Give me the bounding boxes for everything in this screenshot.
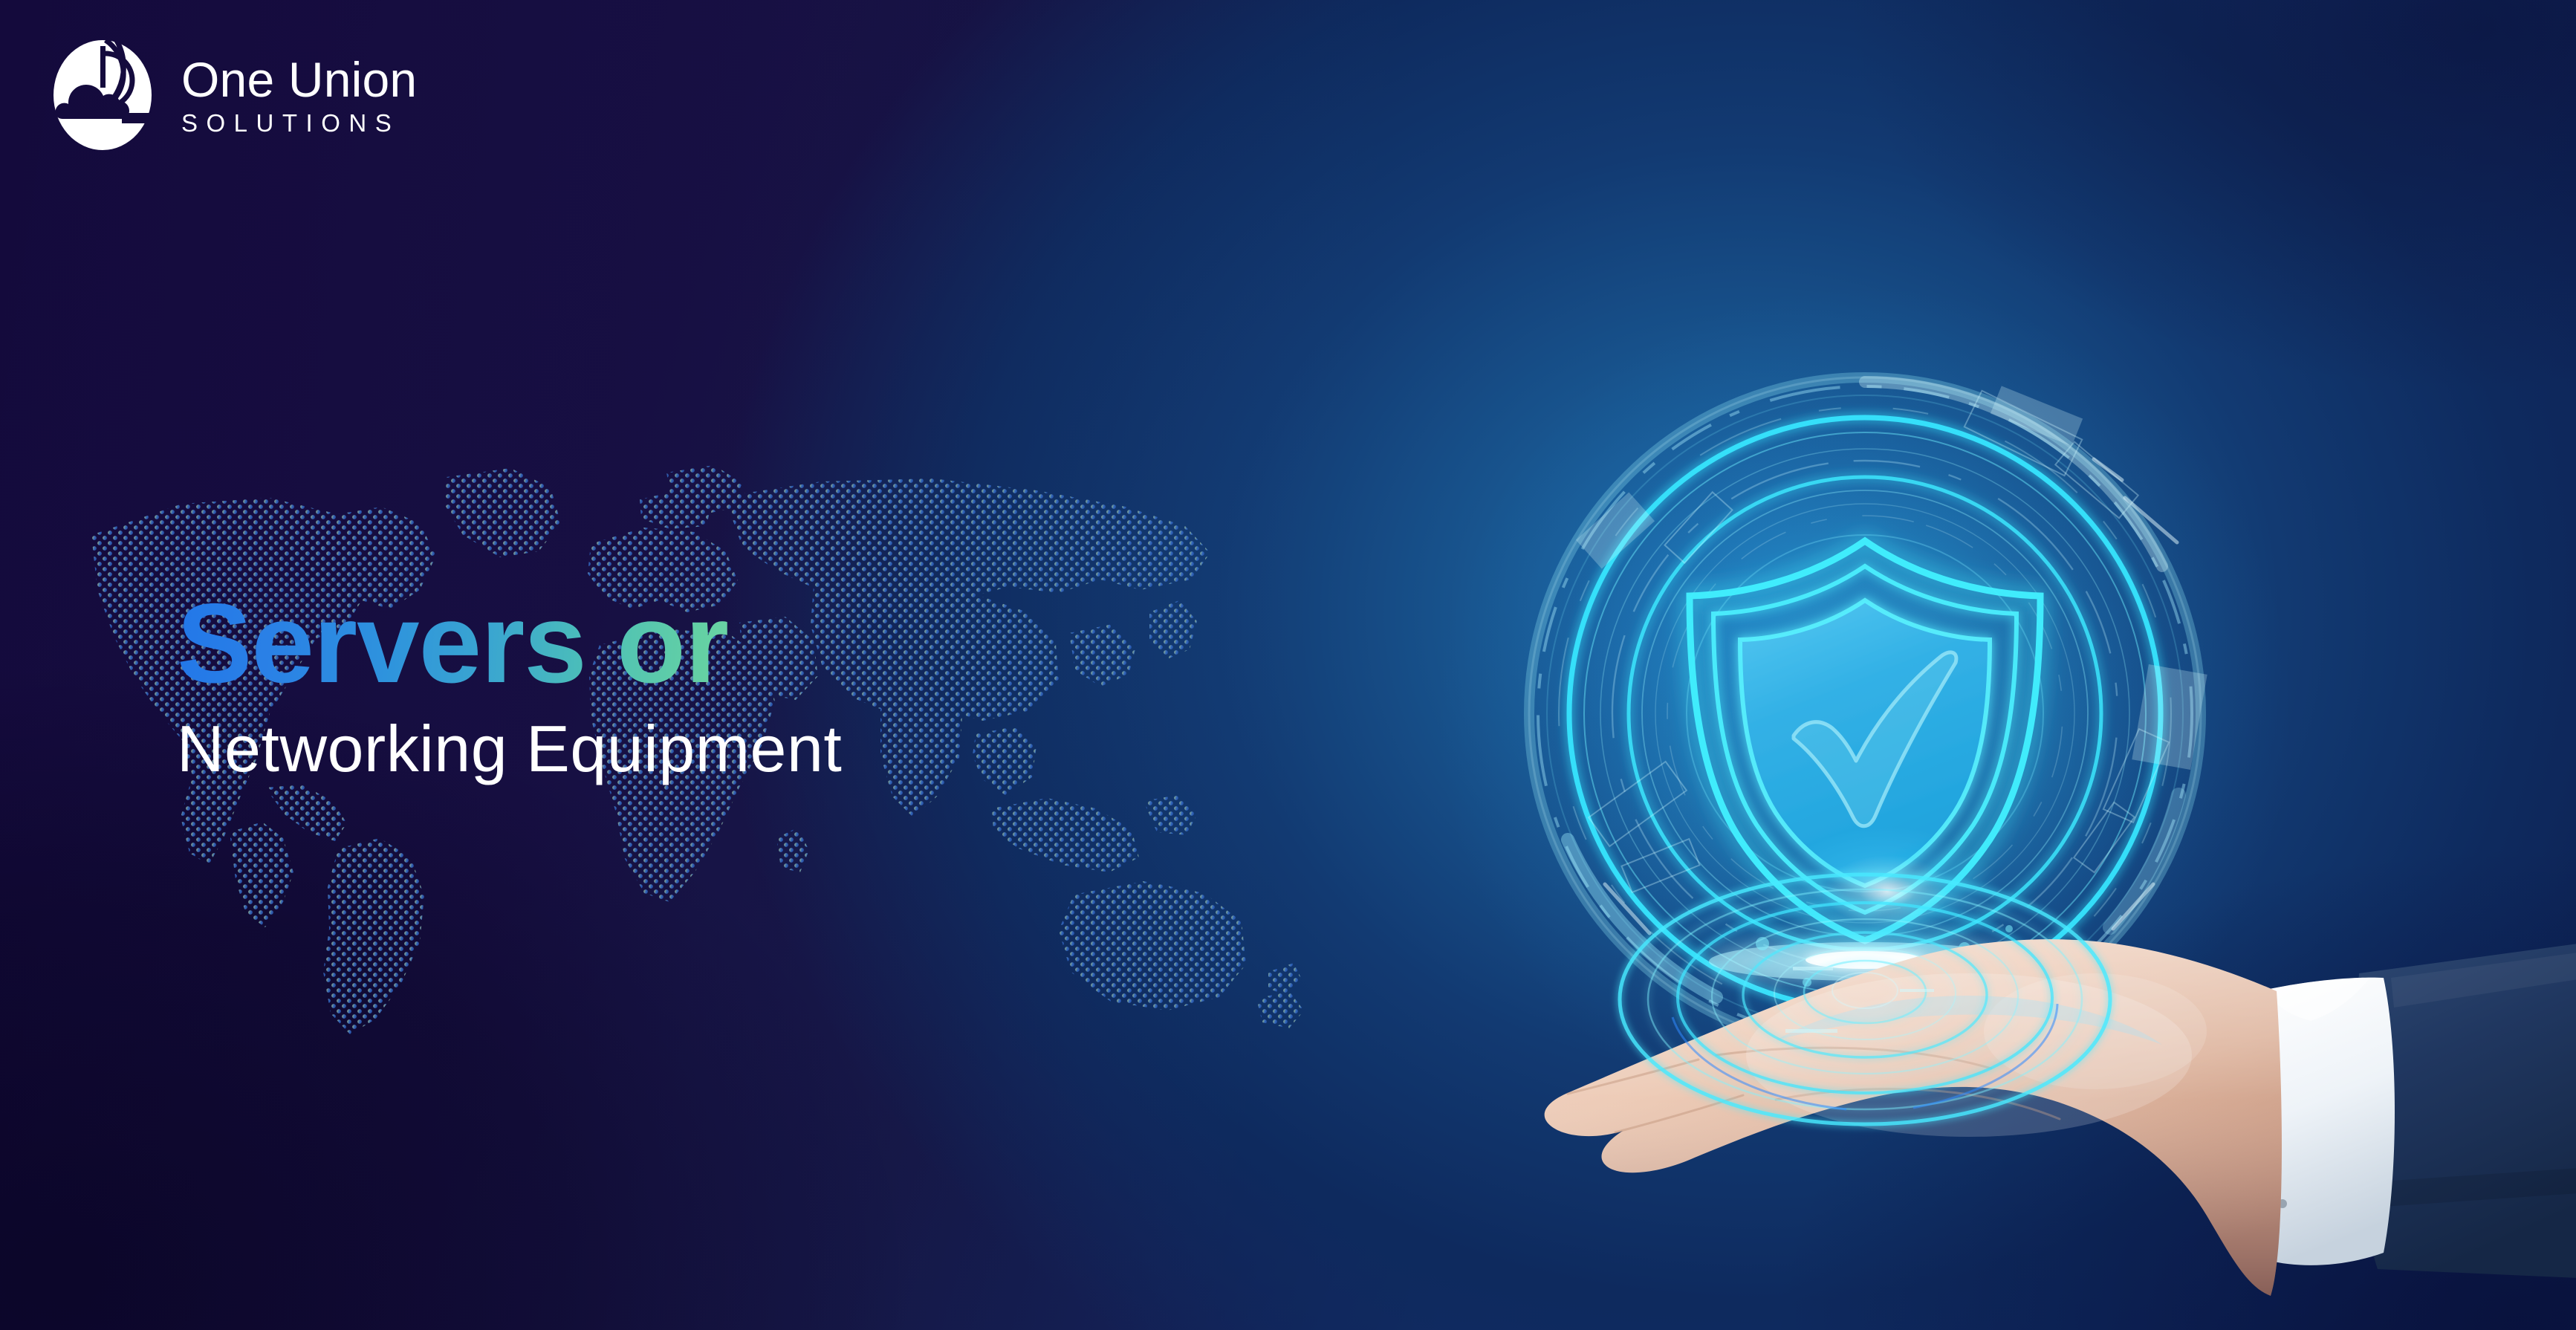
hero-banner: One Union SOLUTIONS Servers or Networkin… bbox=[0, 0, 2576, 1330]
headline-block: Servers or Networking Equipment bbox=[177, 587, 842, 782]
cloud-wifi-logo-icon bbox=[43, 36, 162, 155]
brand-subtitle: SOLUTIONS bbox=[181, 111, 417, 135]
headline-line-1: Servers or bbox=[177, 587, 842, 700]
headline-line-2: Networking Equipment bbox=[177, 716, 842, 782]
brand-logo-text: One Union SOLUTIONS bbox=[181, 55, 417, 135]
open-palm-hand-icon bbox=[1456, 832, 2576, 1330]
brand-logo[interactable]: One Union SOLUTIONS bbox=[43, 36, 417, 155]
brand-title: One Union bbox=[181, 55, 417, 104]
